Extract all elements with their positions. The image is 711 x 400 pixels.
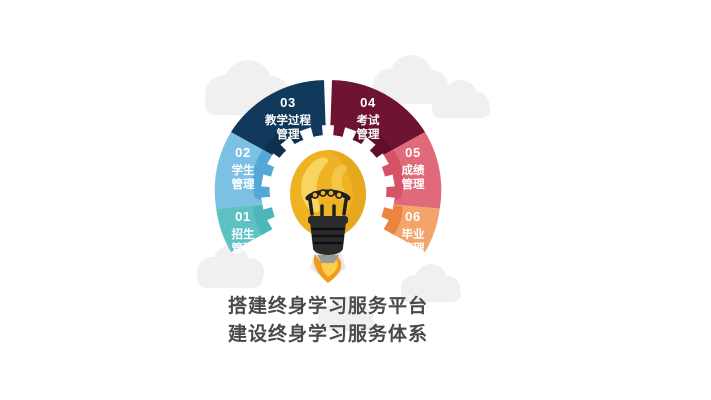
infographic-canvas: 01 招生 管理 02 学生 管理 03 教学过程 管理 (0, 0, 711, 400)
segment-label-01-line2: 管理 (232, 241, 255, 255)
segment-number-06: 06 (405, 209, 421, 224)
caption-line-2: 建设终身学习服务体系 (228, 322, 428, 345)
segment-label-02-line1: 学生 (232, 163, 255, 177)
segment-number-02: 02 (235, 145, 251, 160)
lightbulb-rocket-icon (290, 150, 366, 283)
segment-number-04: 04 (360, 95, 376, 110)
bulb-base (310, 222, 346, 255)
wheel-segment-06[interactable]: 06 毕业 管理 (377, 204, 440, 255)
segment-number-03: 03 (280, 95, 296, 110)
segment-label-05-line1: 成绩 (402, 163, 425, 177)
segment-label-01-line1: 招生 (232, 227, 255, 241)
caption-line-1: 搭建终身学习服务平台 (228, 294, 428, 317)
segment-label-06-line2: 管理 (402, 241, 425, 255)
segment-label-06-line1: 毕业 (402, 227, 425, 241)
segment-number-05: 05 (405, 145, 421, 160)
segment-label-02-line2: 管理 (232, 177, 255, 191)
bulb-base-collar (308, 216, 348, 224)
segment-number-01: 01 (235, 209, 251, 224)
segment-label-04-line1: 考试 (357, 113, 380, 127)
segment-label-05-line2: 管理 (402, 177, 425, 191)
lifelong-learning-infographic: 01 招生 管理 02 学生 管理 03 教学过程 管理 (0, 0, 711, 400)
segment-label-03-line1: 教学过程 (264, 113, 311, 127)
